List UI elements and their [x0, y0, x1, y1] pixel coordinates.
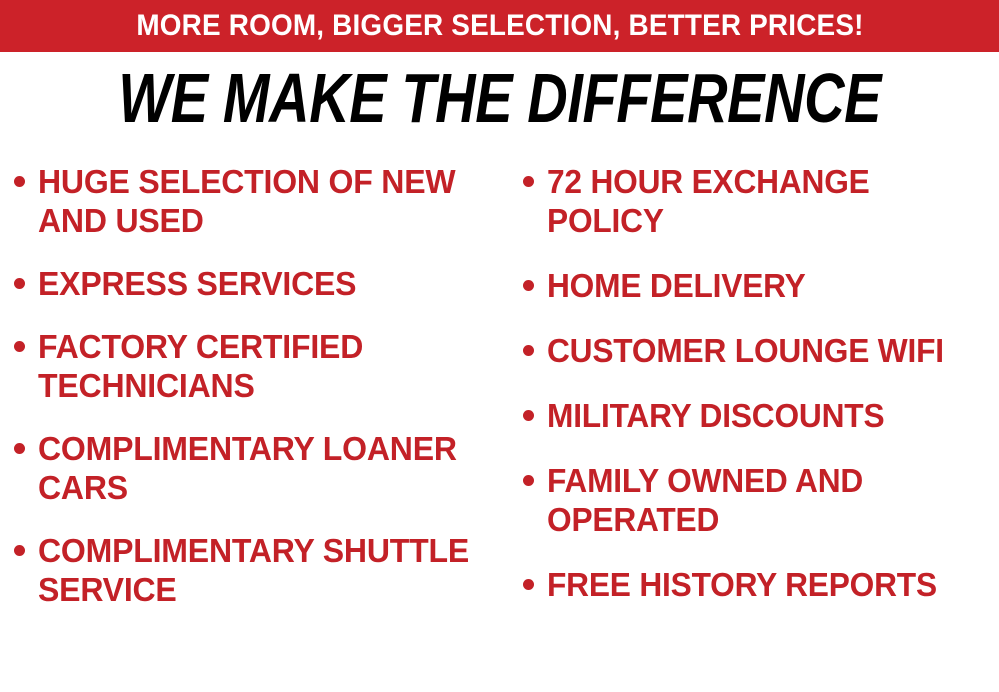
- list-item-label: MILITARY DISCOUNTS: [547, 396, 981, 435]
- bullet-dot-icon: [14, 545, 25, 556]
- list-item-label: HOME DELIVERY: [547, 266, 981, 305]
- list-item: COMPLIMENTARY LOANER CARS: [14, 429, 505, 507]
- list-item-label: FAMILY OWNED AND OPERATED: [547, 461, 981, 539]
- bullet-dot-icon: [523, 410, 534, 421]
- list-item: COMPLIMENTARY SHUTTLE SERVICE: [14, 531, 505, 609]
- list-item-label: 72 HOUR EXCHANGE POLICY: [547, 162, 981, 240]
- main-headline: WE MAKE THE DIFFERENCE: [0, 62, 999, 134]
- bullet-dot-icon: [14, 341, 25, 352]
- list-item-label: FACTORY CERTIFIED TECHNICIANS: [38, 327, 491, 405]
- bullet-dot-icon: [523, 345, 534, 356]
- top-ribbon: MORE ROOM, BIGGER SELECTION, BETTER PRIC…: [0, 0, 999, 52]
- list-item: MILITARY DISCOUNTS: [523, 396, 999, 435]
- list-item-label: FREE HISTORY REPORTS: [547, 565, 981, 604]
- list-item: FACTORY CERTIFIED TECHNICIANS: [14, 327, 505, 405]
- bullet-dot-icon: [523, 579, 534, 590]
- bullet-dot-icon: [523, 280, 534, 291]
- bullet-dot-icon: [14, 443, 25, 454]
- bullet-dot-icon: [523, 176, 534, 187]
- bullet-dot-icon: [523, 475, 534, 486]
- list-item: CUSTOMER LOUNGE WIFI: [523, 331, 999, 370]
- list-item-label: HUGE SELECTION OF NEW AND USED: [38, 162, 491, 240]
- list-item: HOME DELIVERY: [523, 266, 999, 305]
- feature-column-right: 72 HOUR EXCHANGE POLICY HOME DELIVERY CU…: [505, 156, 999, 630]
- list-item: FREE HISTORY REPORTS: [523, 565, 999, 604]
- headline-text: WE MAKE THE DIFFERENCE: [118, 62, 881, 134]
- feature-columns: HUGE SELECTION OF NEW AND USED EXPRESS S…: [0, 156, 999, 692]
- list-item: FAMILY OWNED AND OPERATED: [523, 461, 999, 539]
- list-item-label: CUSTOMER LOUNGE WIFI: [547, 331, 981, 370]
- list-item-label: COMPLIMENTARY SHUTTLE SERVICE: [38, 531, 491, 609]
- bullet-dot-icon: [14, 278, 25, 289]
- list-item-label: COMPLIMENTARY LOANER CARS: [38, 429, 491, 507]
- list-item-label: EXPRESS SERVICES: [38, 264, 491, 303]
- list-item: 72 HOUR EXCHANGE POLICY: [523, 162, 999, 240]
- list-item: EXPRESS SERVICES: [14, 264, 505, 303]
- bullet-dot-icon: [14, 176, 25, 187]
- list-item: HUGE SELECTION OF NEW AND USED: [14, 162, 505, 240]
- ribbon-headline-text: MORE ROOM, BIGGER SELECTION, BETTER PRIC…: [136, 11, 863, 41]
- promotional-banner: MORE ROOM, BIGGER SELECTION, BETTER PRIC…: [0, 0, 999, 692]
- feature-column-left: HUGE SELECTION OF NEW AND USED EXPRESS S…: [0, 156, 505, 633]
